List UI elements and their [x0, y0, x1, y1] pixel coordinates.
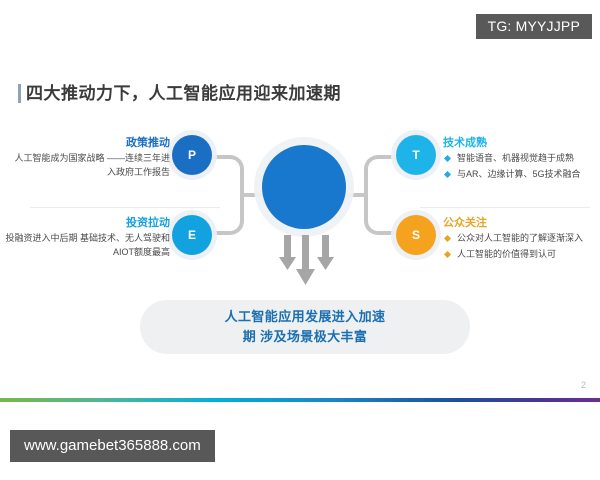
block-public-attention-heading: 公众关注: [443, 216, 595, 230]
diamond-bullet-icon: [444, 235, 451, 242]
conclusion-line-2: 期 涉及场景极大丰富: [243, 327, 368, 347]
block-public-attention: 公众关注 公众对人工智能的了解逐渐深入 人工智能的价值得到认可: [443, 216, 595, 263]
node-society-s[interactable]: S: [396, 215, 436, 255]
block-public-attention-bullets: 公众对人工智能的了解逐渐深入 人工智能的价值得到认可: [443, 232, 595, 261]
block-investment-body: 投融资进入中后期 基础技术、无人驾驶和AIOT额度最高: [0, 232, 170, 259]
tg-watermark-badge: TG: MYYJJPP: [476, 14, 592, 39]
connector-bracket-left: [212, 155, 244, 235]
footer-gradient-bar: [0, 398, 600, 402]
connector-stub-right: [346, 193, 366, 197]
center-hub-circle: [262, 145, 346, 229]
node-technology-t[interactable]: T: [396, 135, 436, 175]
slide-canvas: TG: MYYJJPP 四大推动力下，人工智能应用迎来加速期 P E T S: [0, 0, 600, 480]
node-label-t: T: [412, 148, 419, 162]
list-item: 智能语音、机器视觉趋于成熟: [443, 152, 595, 166]
page-title: 四大推动力下，人工智能应用迎来加速期: [26, 82, 366, 106]
title-accent-bar: [18, 84, 21, 103]
block-investment: 投资拉动 投融资进入中后期 基础技术、无人驾驶和AIOT额度最高: [0, 216, 170, 259]
connector-bracket-right: [364, 155, 396, 235]
diamond-bullet-icon: [444, 171, 451, 178]
page-number: 2: [581, 380, 586, 390]
bullet-text: 智能语音、机器视觉趋于成熟: [457, 153, 574, 163]
block-technology-bullets: 智能语音、机器视觉趋于成熟 与AR、边缘计算、5G技术融合: [443, 152, 595, 181]
block-policy: 政策推动 人工智能成为国家战略 ——连续三年进入政府工作报告: [8, 136, 170, 179]
diamond-bullet-icon: [444, 155, 451, 162]
diamond-bullet-icon: [444, 251, 451, 258]
site-watermark-badge: www.gamebet365888.com: [10, 430, 215, 462]
bullet-text: 人工智能的价值得到认可: [457, 249, 556, 259]
node-label-s: S: [412, 228, 420, 242]
node-label-p: P: [188, 148, 196, 162]
list-item: 人工智能的价值得到认可: [443, 248, 595, 262]
node-policy-p[interactable]: P: [172, 135, 212, 175]
block-technology: 技术成熟 智能语音、机器视觉趋于成熟 与AR、边缘计算、5G技术融合: [443, 136, 595, 183]
node-label-e: E: [188, 228, 196, 242]
node-economy-e[interactable]: E: [172, 215, 212, 255]
bullet-text: 与AR、边缘计算、5G技术融合: [457, 169, 581, 179]
block-policy-heading: 政策推动: [8, 136, 170, 150]
down-arrows-icon: [278, 235, 334, 287]
connector-stub-left: [244, 193, 264, 197]
conclusion-line-1: 人工智能应用发展进入加速: [225, 307, 386, 327]
conclusion-banner: 人工智能应用发展进入加速 期 涉及场景极大丰富: [140, 300, 470, 354]
block-technology-heading: 技术成熟: [443, 136, 595, 150]
block-policy-body: 人工智能成为国家战略 ——连续三年进入政府工作报告: [8, 152, 170, 179]
block-investment-heading: 投资拉动: [0, 216, 170, 230]
list-item: 与AR、边缘计算、5G技术融合: [443, 168, 595, 182]
list-item: 公众对人工智能的了解逐渐深入: [443, 232, 595, 246]
slide-title-block: 四大推动力下，人工智能应用迎来加速期: [26, 82, 366, 106]
bullet-text: 公众对人工智能的了解逐渐深入: [457, 233, 583, 243]
